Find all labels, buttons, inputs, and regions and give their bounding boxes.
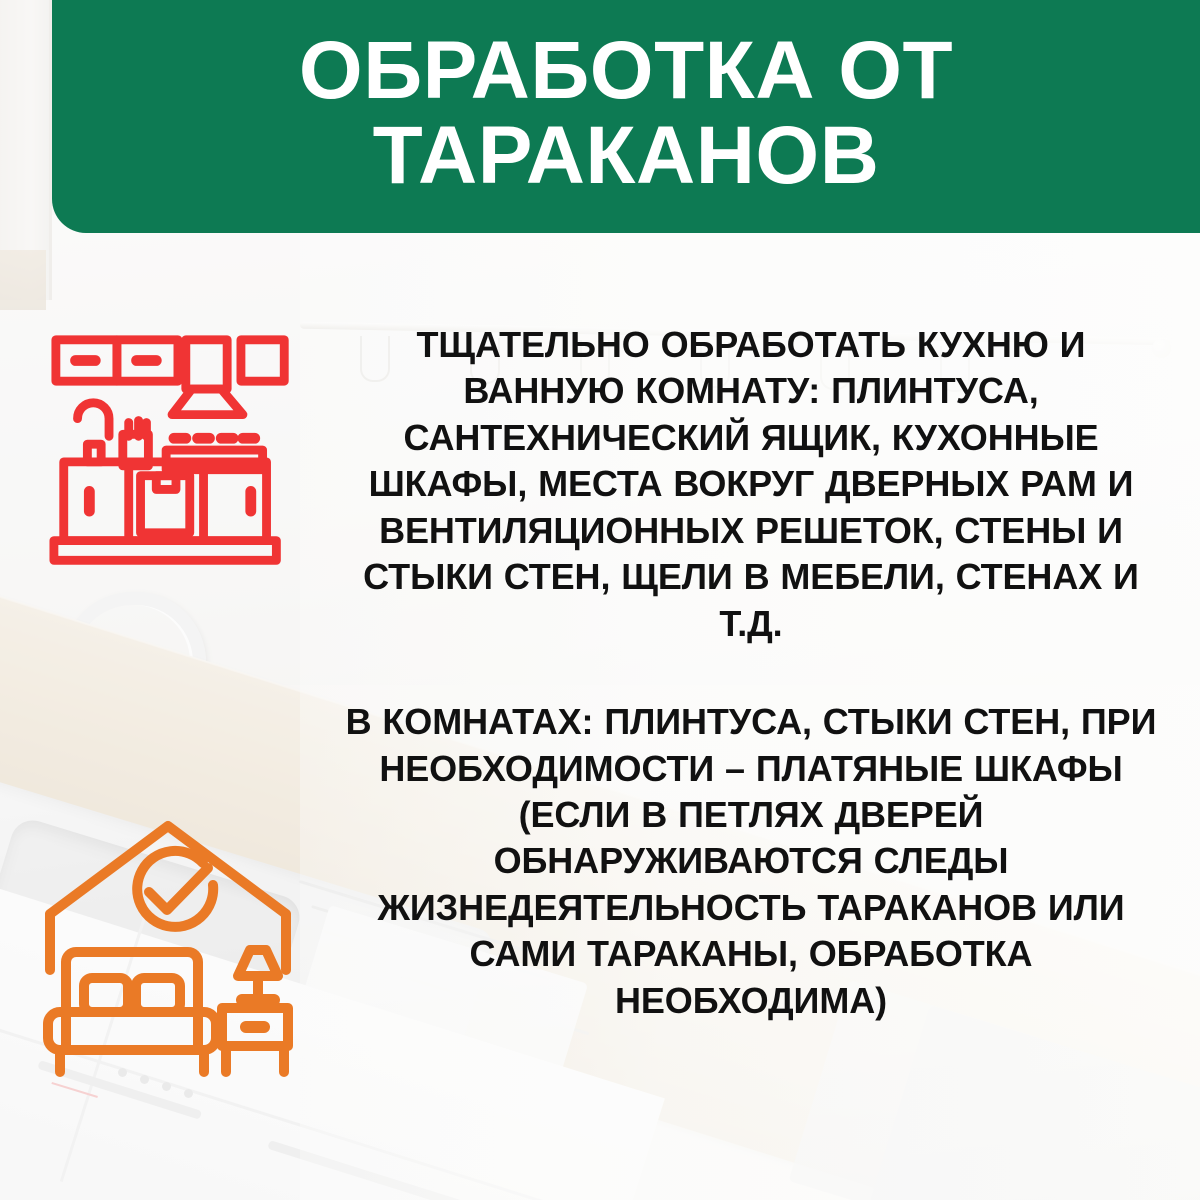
check-mark	[149, 868, 208, 910]
bedroom-icon-svg	[36, 818, 298, 1080]
paragraph-rooms: В КОМНАТАХ: ПЛИНТУСА, СТЫКИ СТЕН, ПРИ НЕ…	[332, 699, 1170, 1024]
kitchen-icon	[48, 328, 300, 580]
poster-root: ОБРАБОТКА ОТ ТАРАКАНОВ	[0, 0, 1200, 1200]
page-title: ОБРАБОТКА ОТ ТАРАКАНОВ	[136, 29, 1116, 204]
header-banner: ОБРАБОТКА ОТ ТАРАКАНОВ	[52, 0, 1200, 233]
paragraph-kitchen-bathroom: ТЩАТЕЛЬНО ОБРАБОТАТЬ КУХНЮ И ВАННУЮ КОМН…	[332, 322, 1170, 647]
bedroom-house-check-icon	[36, 818, 298, 1080]
content-text-column: ТЩАТЕЛЬНО ОБРАБОТАТЬ КУХНЮ И ВАННУЮ КОМН…	[332, 286, 1170, 1060]
kitchen-icon-svg	[48, 328, 300, 580]
